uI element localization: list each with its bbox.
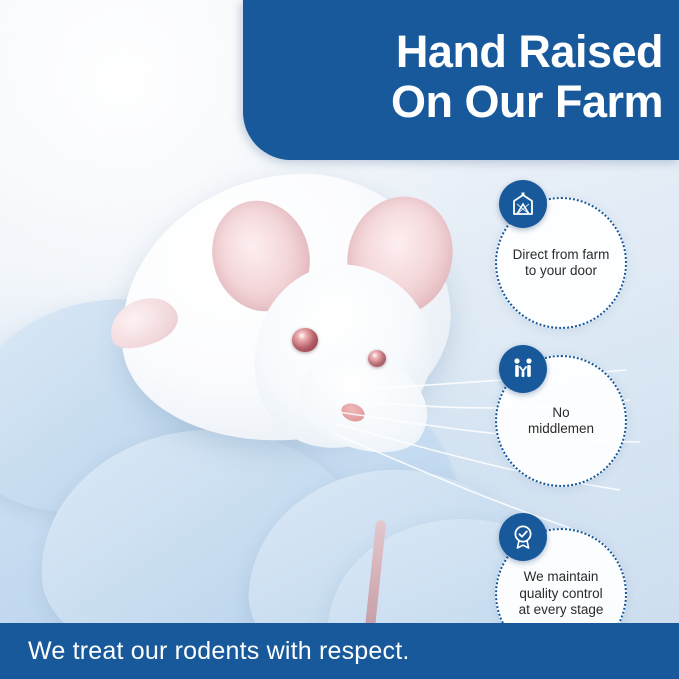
quality-award-ribbon-icon (499, 513, 547, 561)
handshake-people-icon (499, 345, 547, 393)
headline-banner: Hand Raised On Our Farm (243, 0, 679, 160)
mouse-eye-left (292, 328, 318, 352)
feature-bubble-1-text: Direct from farm to your door (503, 247, 620, 280)
footer-tagline: We treat our rodents with respect. (28, 637, 410, 666)
mouse-eye-right (368, 350, 386, 367)
headline-line-2: On Our Farm (391, 77, 663, 127)
promotional-banner: Hand Raised On Our Farm Direct from farm… (0, 0, 679, 679)
footer-banner: We treat our rodents with respect. (0, 623, 679, 679)
feature-bubble-2-text: No middlemen (518, 405, 604, 438)
headline-line-1: Hand Raised (396, 27, 663, 77)
barn-icon (499, 180, 547, 228)
feature-bubble-3-text: We maintain quality control at every sta… (509, 569, 614, 618)
